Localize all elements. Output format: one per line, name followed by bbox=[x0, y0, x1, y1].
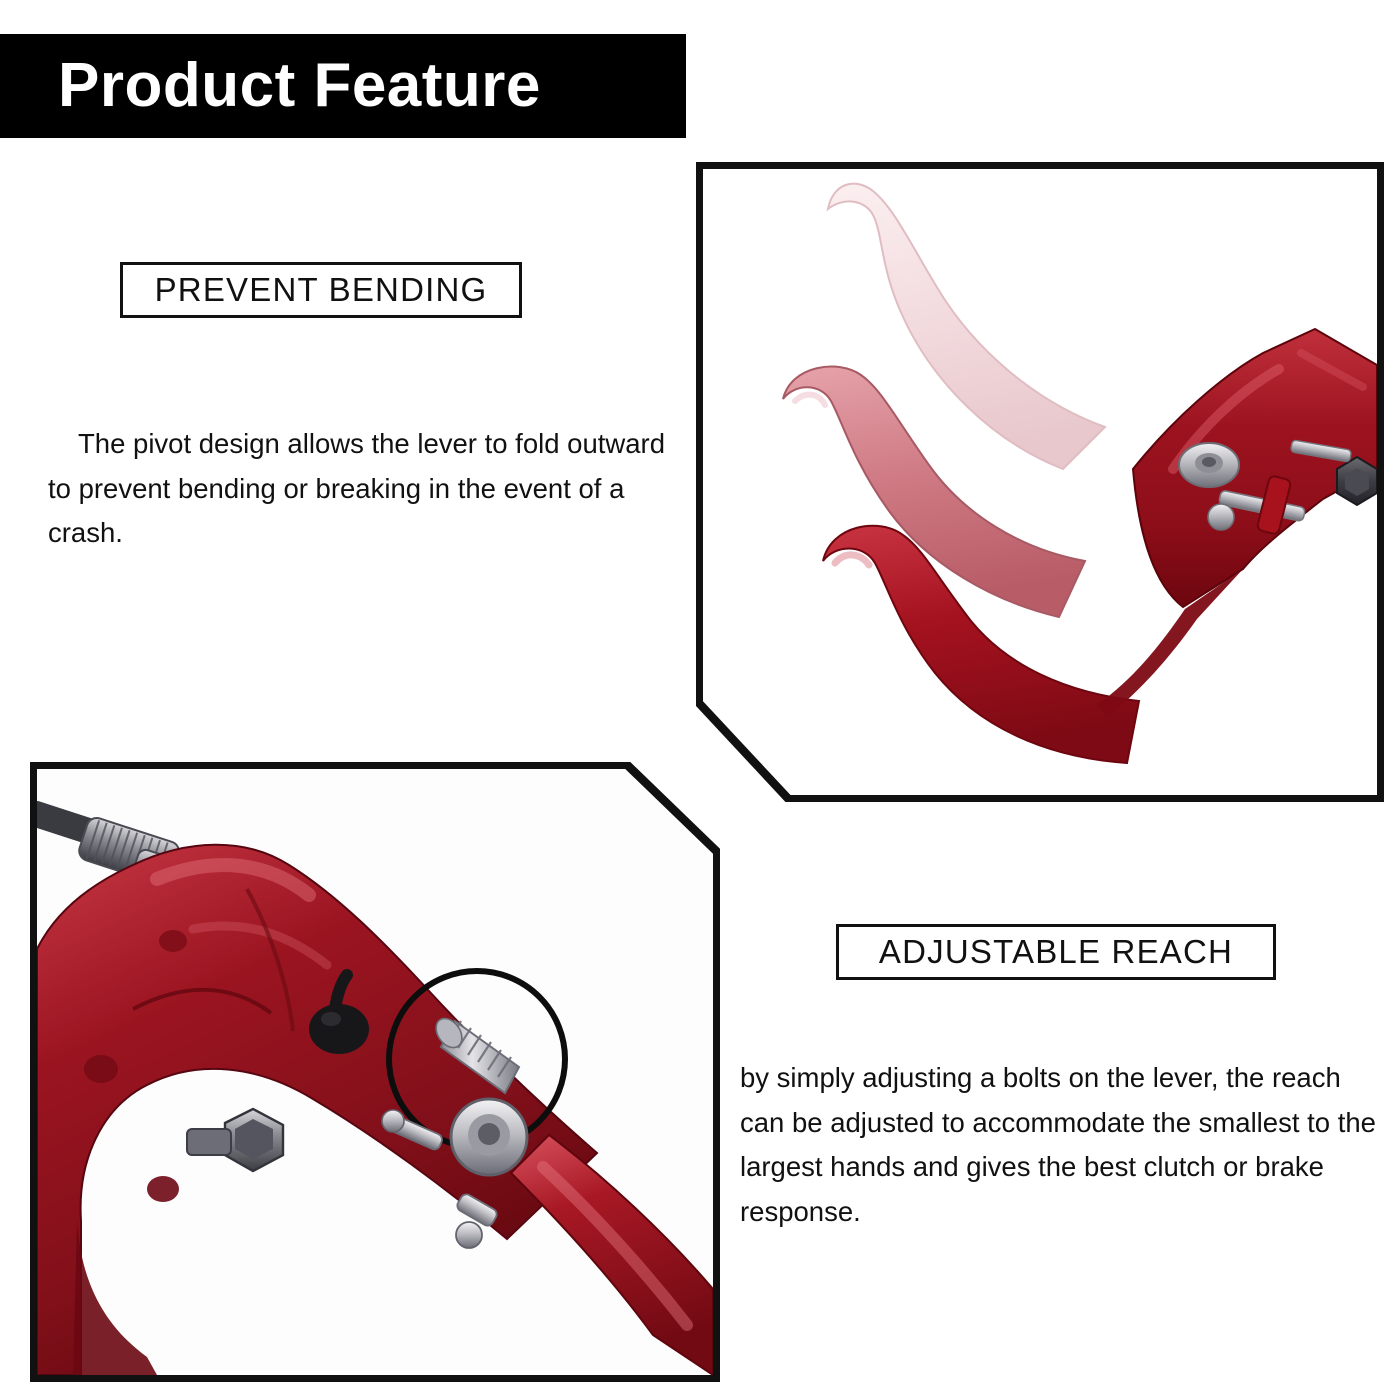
section-heading-label: ADJUSTABLE REACH bbox=[879, 935, 1233, 968]
recess-hole-3 bbox=[147, 1176, 179, 1202]
section-body-prevent-bending: The pivot design allows the lever to fol… bbox=[48, 422, 688, 556]
pivot-bolt bbox=[1179, 443, 1239, 487]
header-bar: Product Feature bbox=[0, 34, 686, 138]
photo-inner bbox=[703, 169, 1377, 795]
lever-fold-illustration bbox=[703, 169, 1377, 795]
lever-pivot-bolt bbox=[451, 1099, 527, 1175]
photo-panel-prevent-bending bbox=[696, 162, 1384, 802]
page-title: Product Feature bbox=[0, 55, 541, 117]
recess-hole-2 bbox=[84, 1055, 118, 1083]
recess-hole-1 bbox=[159, 930, 187, 952]
photo-inner bbox=[37, 769, 713, 1375]
section-body-adjustable-reach: by simply adjusting a bolts on the lever… bbox=[740, 1056, 1380, 1234]
section-heading-prevent-bending: PREVENT BENDING bbox=[120, 262, 522, 318]
section-heading-label: PREVENT BENDING bbox=[155, 273, 488, 306]
lever-perch-closeup-illustration bbox=[37, 769, 713, 1375]
section-heading-adjustable-reach: ADJUSTABLE REACH bbox=[836, 924, 1276, 980]
photo-panel-adjustable-reach bbox=[30, 762, 720, 1382]
